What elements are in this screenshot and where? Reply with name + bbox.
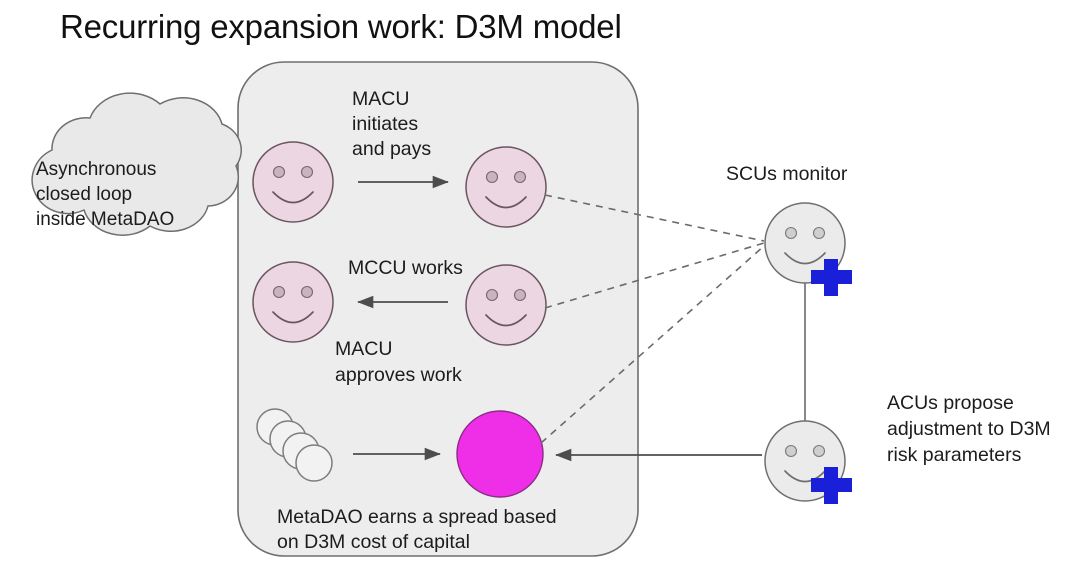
d3m-model-diagram: Recurring expansion work: D3M model Asyn… xyxy=(0,0,1080,570)
acu-proposer-face xyxy=(765,421,852,504)
diagram-canvas: Recurring expansion work: D3M model Asyn… xyxy=(0,0,1080,570)
flow-label-row3-line1: MACU xyxy=(335,338,392,360)
macu-approver-face xyxy=(253,262,333,342)
flow-label-row4-line1: MetaDAO earns a spread based xyxy=(277,506,557,528)
mccu-returns-face xyxy=(466,265,546,345)
flow-label-row4-line2: on D3M cost of capital xyxy=(277,531,470,553)
page-title: Recurring expansion work: D3M model xyxy=(60,8,622,45)
acu-label-line1: ACUs propose xyxy=(887,392,1014,414)
scu-monitor-face xyxy=(765,203,852,296)
flow-label-row1-line2: initiates xyxy=(352,113,418,135)
asynchronous-closed-loop-cloud: Asynchronous closed loop inside MetaDAO xyxy=(32,93,241,235)
cloud-line-2: closed loop xyxy=(36,184,132,205)
macu-initiator-face xyxy=(253,142,333,222)
scu-label: SCUs monitor xyxy=(726,163,848,185)
acu-label-line3: risk parameters xyxy=(887,444,1022,466)
flow-label-row2: MCCU works xyxy=(348,257,463,279)
mccu-worker-face xyxy=(466,147,546,227)
cloud-line-3: inside MetaDAO xyxy=(36,209,174,230)
flow-label-row1-line3: and pays xyxy=(352,138,431,160)
cloud-line-1: Asynchronous xyxy=(36,159,156,180)
d3m-spread-circle xyxy=(457,411,543,497)
flow-label-row1-line1: MACU xyxy=(352,88,409,110)
flow-label-row3-line2: approves work xyxy=(335,364,462,386)
acu-label-line2: adjustment to D3M xyxy=(887,418,1051,440)
